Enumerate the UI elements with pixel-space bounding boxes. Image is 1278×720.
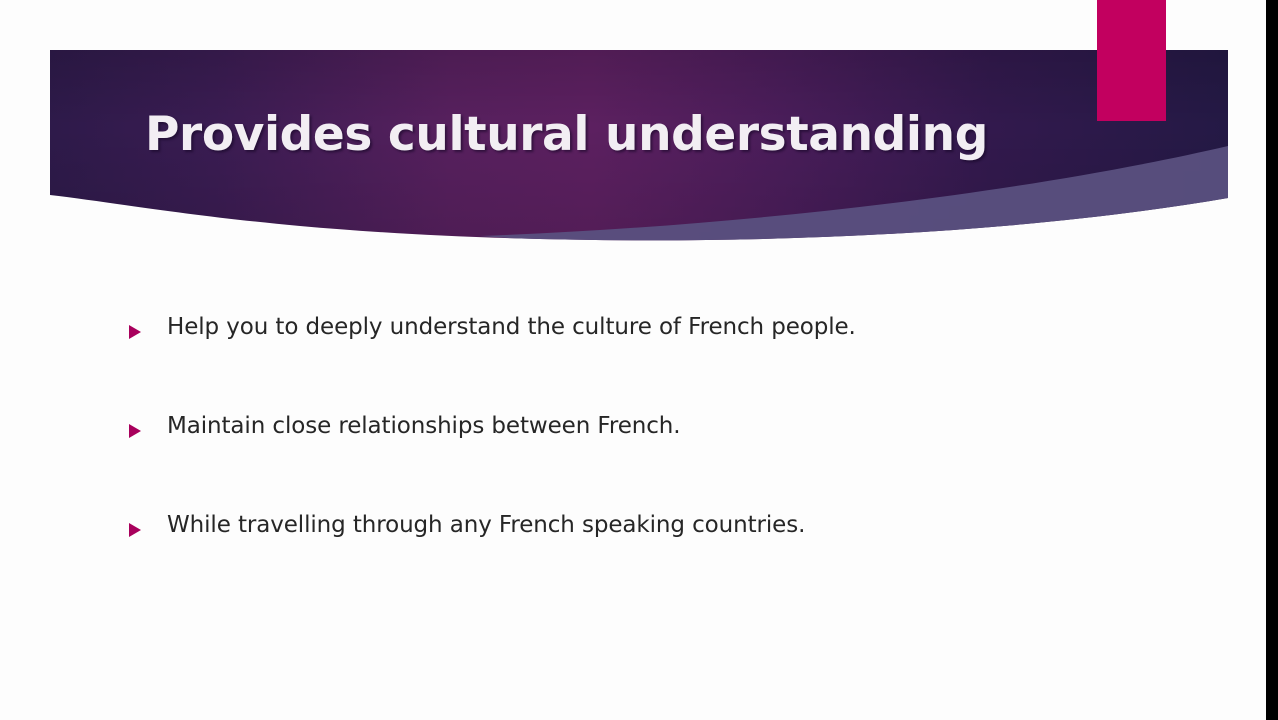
list-item-text: Maintain close relationships between Fre…	[167, 411, 1188, 441]
list-item: While travelling through any French spea…	[128, 510, 1188, 609]
triangle-right-bullet-icon	[128, 522, 142, 538]
list-item: Help you to deeply understand the cultur…	[128, 312, 1188, 411]
list-item-text: Help you to deeply understand the cultur…	[167, 312, 1188, 342]
list-item: Maintain close relationships between Fre…	[128, 411, 1188, 510]
bullet-list: Help you to deeply understand the cultur…	[128, 312, 1188, 609]
magenta-accent-bar	[1097, 0, 1166, 121]
letterbox-right-edge	[1266, 0, 1278, 720]
slide-title: Provides cultural understanding	[145, 108, 988, 162]
slide-canvas: Provides cultural understanding Help you…	[0, 0, 1266, 720]
triangle-right-bullet-icon	[128, 324, 142, 340]
triangle-right-bullet-icon	[128, 423, 142, 439]
presentation-slide: Provides cultural understanding Help you…	[0, 0, 1278, 720]
list-item-text: While travelling through any French spea…	[167, 510, 1188, 540]
